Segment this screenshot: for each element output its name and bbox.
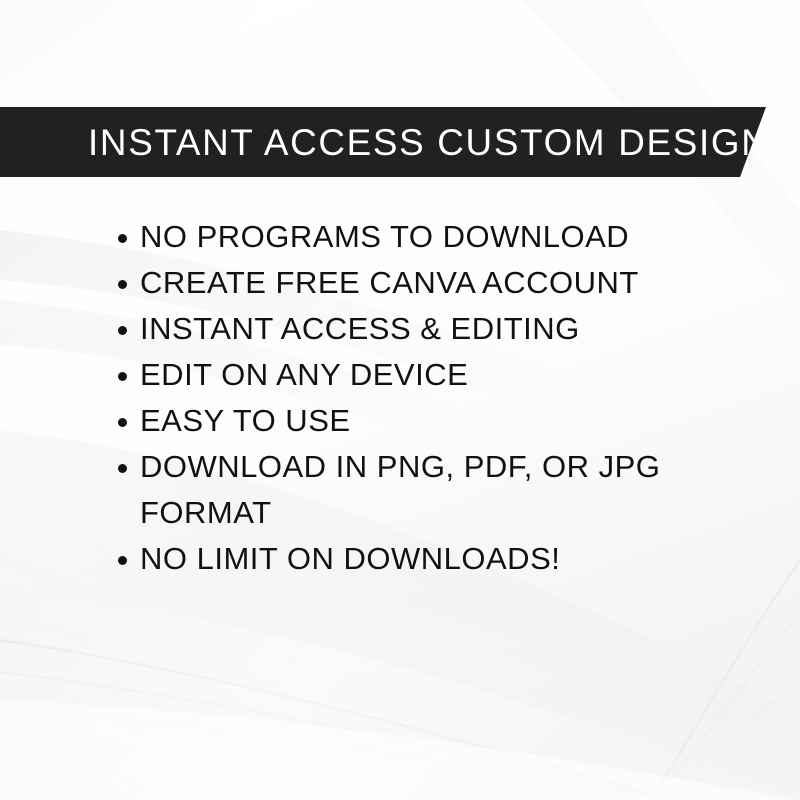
bullet-icon (118, 372, 127, 381)
list-item: CREATE FREE CANVA ACCOUNT (0, 260, 800, 306)
list-item-label: CREATE FREE CANVA ACCOUNT (140, 260, 639, 306)
bullet-icon (118, 418, 127, 427)
bullet-icon (118, 464, 127, 473)
list-item: EDIT ON ANY DEVICE (0, 352, 800, 398)
list-item-label: DOWNLOAD IN PNG, PDF, OR JPG (140, 444, 660, 490)
list-item-label: EASY TO USE (140, 398, 351, 444)
bullet-icon (118, 556, 127, 565)
promo-graphic-canvas: INSTANT ACCESS CUSTOM DESIGNS NO PROGRAM… (0, 0, 800, 800)
list-item: DOWNLOAD IN PNG, PDF, OR JPG (0, 444, 800, 490)
bullet-icon (118, 326, 127, 335)
list-item-label: NO LIMIT ON DOWNLOADS! (140, 536, 560, 582)
list-item: INSTANT ACCESS & EDITING (0, 306, 800, 352)
list-item: NO LIMIT ON DOWNLOADS! (0, 536, 800, 582)
list-item: NO PROGRAMS TO DOWNLOAD (0, 214, 800, 260)
bullet-icon (118, 234, 127, 243)
page-title: INSTANT ACCESS CUSTOM DESIGNS (88, 124, 796, 161)
list-item-label: NO PROGRAMS TO DOWNLOAD (140, 214, 629, 260)
feature-list: NO PROGRAMS TO DOWNLOAD CREATE FREE CANV… (0, 214, 800, 582)
list-item-label: FORMAT (140, 490, 272, 536)
header-banner: INSTANT ACCESS CUSTOM DESIGNS (0, 107, 766, 177)
list-item: EASY TO USE (0, 398, 800, 444)
list-item-continuation: FORMAT (0, 490, 800, 536)
bullet-icon (118, 280, 127, 289)
list-item-label: EDIT ON ANY DEVICE (140, 352, 468, 398)
list-item-label: INSTANT ACCESS & EDITING (140, 306, 580, 352)
